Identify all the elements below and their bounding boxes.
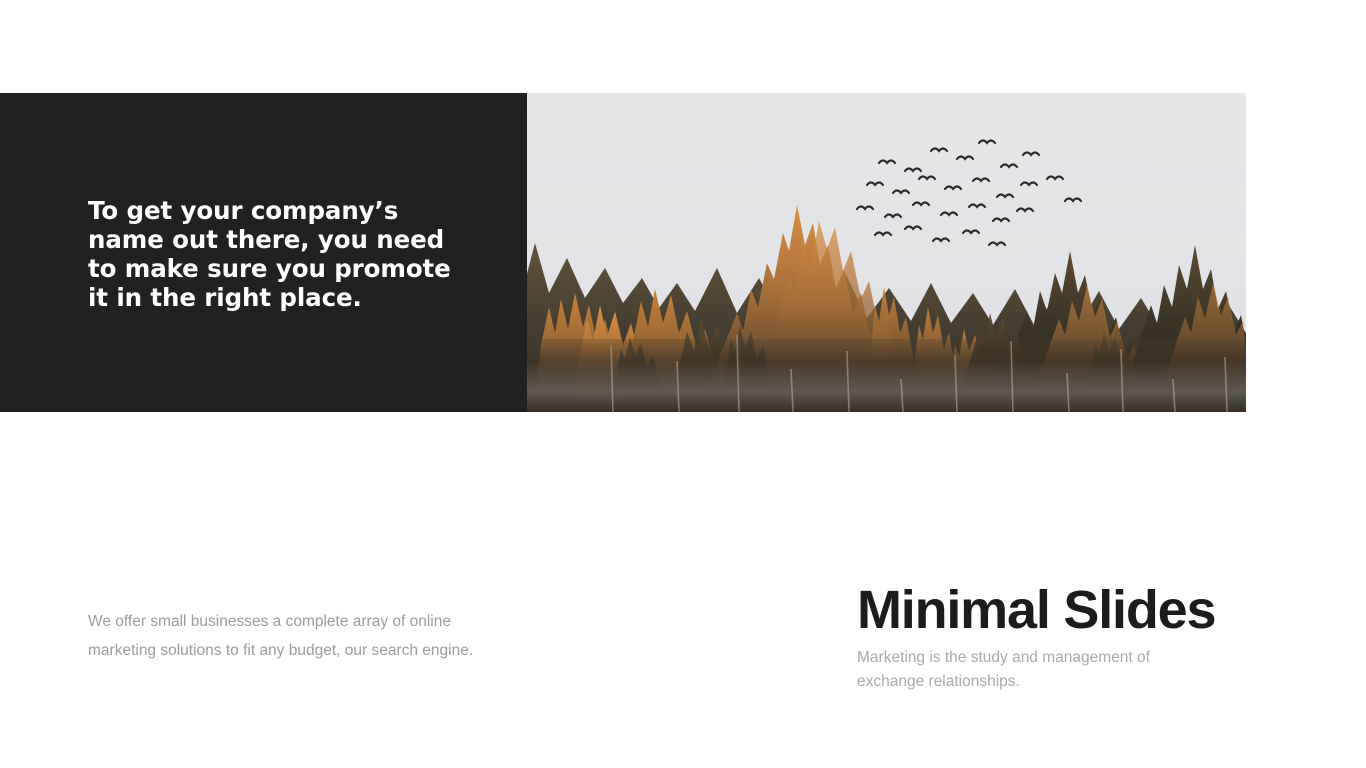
hero-band: To get your company’s name out there, yo…: [0, 93, 1246, 412]
quote-text: To get your company’s name out there, yo…: [88, 196, 468, 312]
forest-photo-illustration: [527, 93, 1246, 412]
page-title: Minimal Slides: [857, 582, 1277, 638]
forest-photo: [527, 93, 1246, 412]
page-subtitle: Marketing is the study and management of…: [857, 646, 1217, 693]
body-paragraph: We offer small businesses a complete arr…: [88, 608, 488, 666]
title-block: Minimal Slides Marketing is the study an…: [857, 582, 1277, 693]
quote-panel: To get your company’s name out there, yo…: [0, 93, 527, 412]
slide-canvas: To get your company’s name out there, yo…: [0, 0, 1366, 768]
